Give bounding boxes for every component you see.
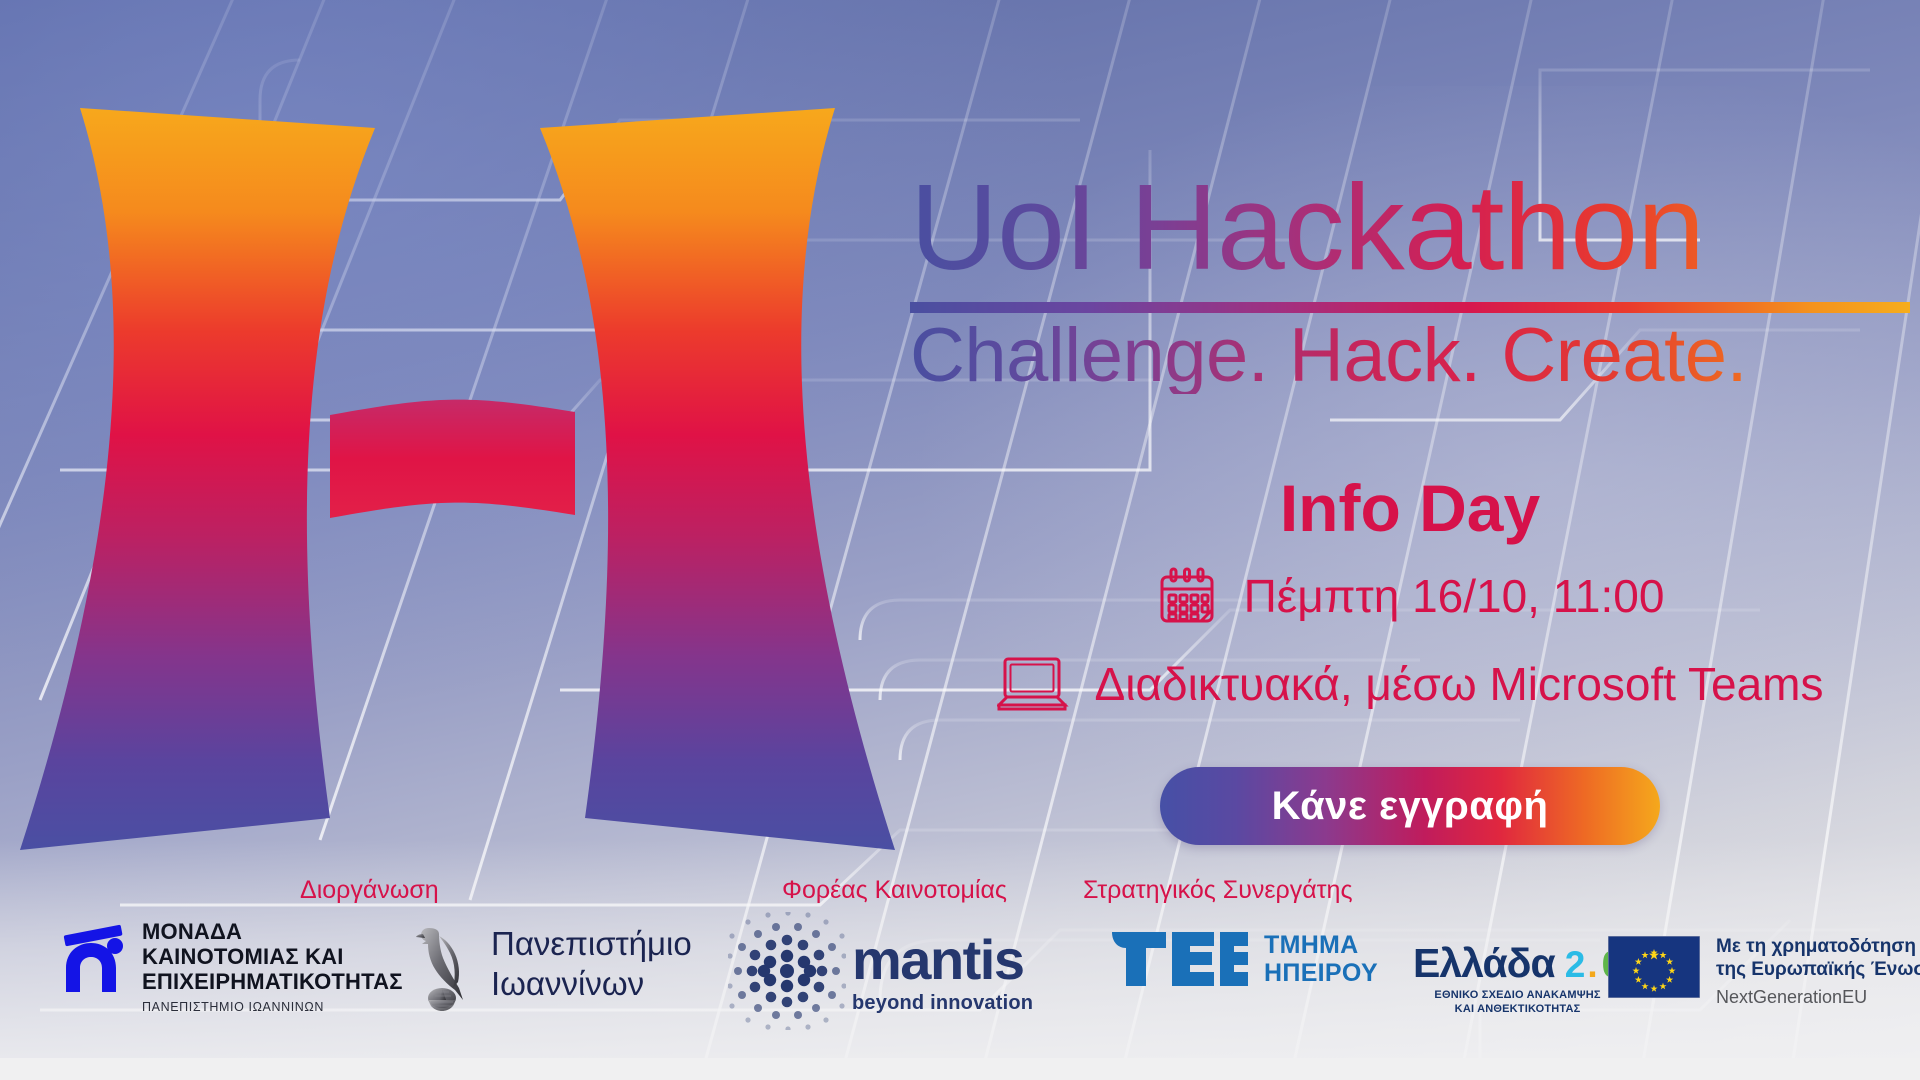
uoi-line1: Πανεπιστήμιο: [491, 924, 692, 964]
mantis-wordmark: mantis: [852, 935, 1033, 985]
laptop-icon: [997, 655, 1069, 713]
sponsors-footer: Διοργάνωση Φορέας Καινοτομίας Στρατηγικό…: [0, 850, 1920, 1080]
greece20-wordmark: Ελλάδα: [1413, 940, 1555, 987]
page-title: UoI Hackathon: [910, 168, 1910, 288]
logo-tee-epirus: ΤΜΗΜΑ ΗΠΕΙΡΟΥ: [1110, 928, 1378, 990]
greece20-sub2: ΚΑΙ ΑΝΘΕΚΤΙΚΟΤΗΤΑΣ: [1413, 1003, 1622, 1017]
register-button[interactable]: Κάνε εγγραφή: [1160, 767, 1660, 845]
tee-line2: ΗΠΕΙΡΟΥ: [1264, 959, 1378, 987]
innovation-unit-line3: ΕΠΙΧΕΙΡΗΜΑΤΙΚΟΤΗΤΑΣ: [142, 970, 403, 995]
logo-innovation-unit: ΜΟΝΑΔΑ ΚΑΙΝΟΤΟΜΙΑΣ ΚΑΙ ΕΠΙΧΕΙΡΗΜΑΤΙΚΟΤΗΤ…: [60, 920, 403, 1014]
cta-container: Κάνε εγγραφή: [900, 767, 1920, 845]
innovation-unit-subtitle: ΠΑΝΕΠΙΣΤΗΜΙΟ ΙΩΑΝΝΙΝΩΝ: [142, 1000, 403, 1014]
hackathon-h-monogram: [0, 60, 960, 860]
innovation-unit-line1: ΜΟΝΑΔΑ: [142, 920, 403, 945]
event-date-text: Πέμπτη 16/10, 11:00: [1244, 569, 1665, 623]
tagline: Challenge. Hack. Create.: [910, 318, 1910, 394]
eu-funding-line1: Με τη χρηματοδότηση: [1716, 936, 1920, 959]
mantis-tagline: beyond innovation: [852, 992, 1033, 1015]
innovation-unit-line2: ΚΑΙΝΟΤΟΜΙΑΣ ΚΑΙ: [142, 945, 403, 970]
logo-eu-funding: Με τη χρηματοδότηση της Ευρωπαϊκής Ένωση…: [1608, 936, 1920, 1008]
title-underline-rule: [910, 302, 1910, 313]
event-label: Info Day: [900, 470, 1920, 546]
eu-funding-line3: NextGenerationEU: [1716, 987, 1920, 1008]
greece20-version-2: 2: [1565, 944, 1586, 986]
event-date-row: Πέμπτη 16/10, 11:00: [900, 565, 1920, 627]
uoi-line2: Ιωαννίνων: [491, 964, 692, 1004]
tee-acronym-icon: [1110, 928, 1250, 990]
label-strategic-partner: Στρατηγικός Συνεργάτης: [1083, 876, 1353, 905]
label-innovation-body: Φορέας Καινοτομίας: [782, 876, 1007, 905]
logo-university-of-ioannina: Πανεπιστήμιο Ιωαννίνων: [415, 916, 692, 1012]
event-location-row: Διαδικτυακά, μέσω Microsoft Teams: [900, 655, 1920, 713]
footer-bottom-strip: [0, 1058, 1920, 1080]
greece20-version-dot: .: [1587, 944, 1597, 986]
title-block: UoI Hackathon: [910, 168, 1910, 313]
logo-mantis: mantis beyond innovation: [728, 912, 1033, 1030]
greece20-sub1: ΕΘΝΙΚΟ ΣΧΕΔΙΟ ΑΝΑΚΑΜΨΗΣ: [1413, 989, 1622, 1003]
eu-flag-icon: [1608, 936, 1700, 998]
uoi-eagle-icon: [415, 916, 477, 1012]
eu-funding-line2: της Ευρωπαϊκής Ένωσης: [1716, 959, 1920, 982]
event-location-text: Διαδικτυακά, μέσω Microsoft Teams: [1095, 657, 1824, 711]
tee-line1: ΤΜΗΜΑ: [1264, 931, 1378, 959]
label-organizer: Διοργάνωση: [300, 876, 439, 905]
mantis-dot-mark-icon: [728, 912, 846, 1030]
logo-greece-2-0: Ελλάδα 2 . 0 ΕΘΝΙΚΟ ΣΧΕΔΙΟ ΑΝΑΚΑΜΨΗΣ ΚΑΙ…: [1413, 940, 1622, 1017]
calendar-icon: [1156, 565, 1218, 627]
hackathon-info-day-poster: UoI Hackathon Challenge. Hack. Create. I…: [0, 0, 1920, 1080]
innovation-unit-mark-icon: [60, 920, 128, 992]
